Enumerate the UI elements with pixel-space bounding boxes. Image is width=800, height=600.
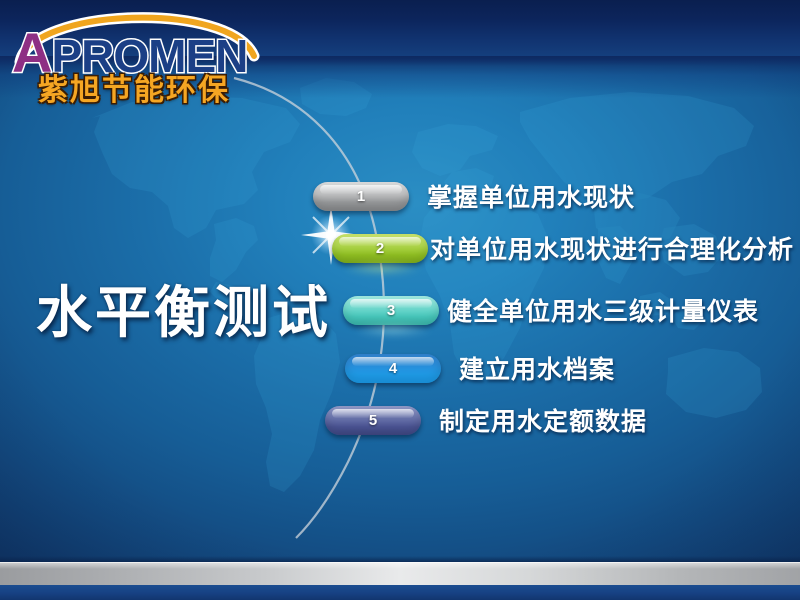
step-label-5: 制定用水定额数据 xyxy=(439,402,647,438)
step-number-2: 2 xyxy=(376,240,384,257)
step-label-1: 掌握单位用水现状 xyxy=(427,178,635,214)
step-number-3: 3 xyxy=(387,302,395,319)
slide-canvas: APROMEN 紫旭节能环保 水平衡测试 xyxy=(0,0,800,600)
footer-silver-bar xyxy=(0,562,800,585)
step-item-4[interactable]: 4 建立用水档案 xyxy=(345,350,615,386)
step-glow-3 xyxy=(353,324,433,336)
step-badge-3[interactable]: 3 xyxy=(343,296,439,325)
step-badge-2[interactable]: 2 xyxy=(332,234,428,263)
step-item-1[interactable]: 1 掌握单位用水现状 xyxy=(313,178,635,214)
step-label-4: 建立用水档案 xyxy=(459,350,615,386)
step-label-2: 对单位用水现状进行合理化分析 xyxy=(430,230,794,266)
step-number-5: 5 xyxy=(369,412,377,429)
steps-list: 1 掌握单位用水现状 2 对单位用水现状进行合理化分析 3 健全单位用水三级计量… xyxy=(0,0,800,600)
step-label-3: 健全单位用水三级计量仪表 xyxy=(447,292,759,328)
footer-navy-bar xyxy=(0,585,800,600)
step-item-5[interactable]: 5 制定用水定额数据 xyxy=(325,402,647,438)
step-item-3[interactable]: 3 健全单位用水三级计量仪表 xyxy=(343,292,759,328)
step-badge-4[interactable]: 4 xyxy=(345,354,441,383)
step-badge-5[interactable]: 5 xyxy=(325,406,421,435)
step-glow-2 xyxy=(342,262,422,274)
step-number-4: 4 xyxy=(389,360,397,377)
step-badge-1[interactable]: 1 xyxy=(313,182,409,211)
step-item-2[interactable]: 2 对单位用水现状进行合理化分析 xyxy=(332,230,794,266)
step-number-1: 1 xyxy=(357,188,365,205)
